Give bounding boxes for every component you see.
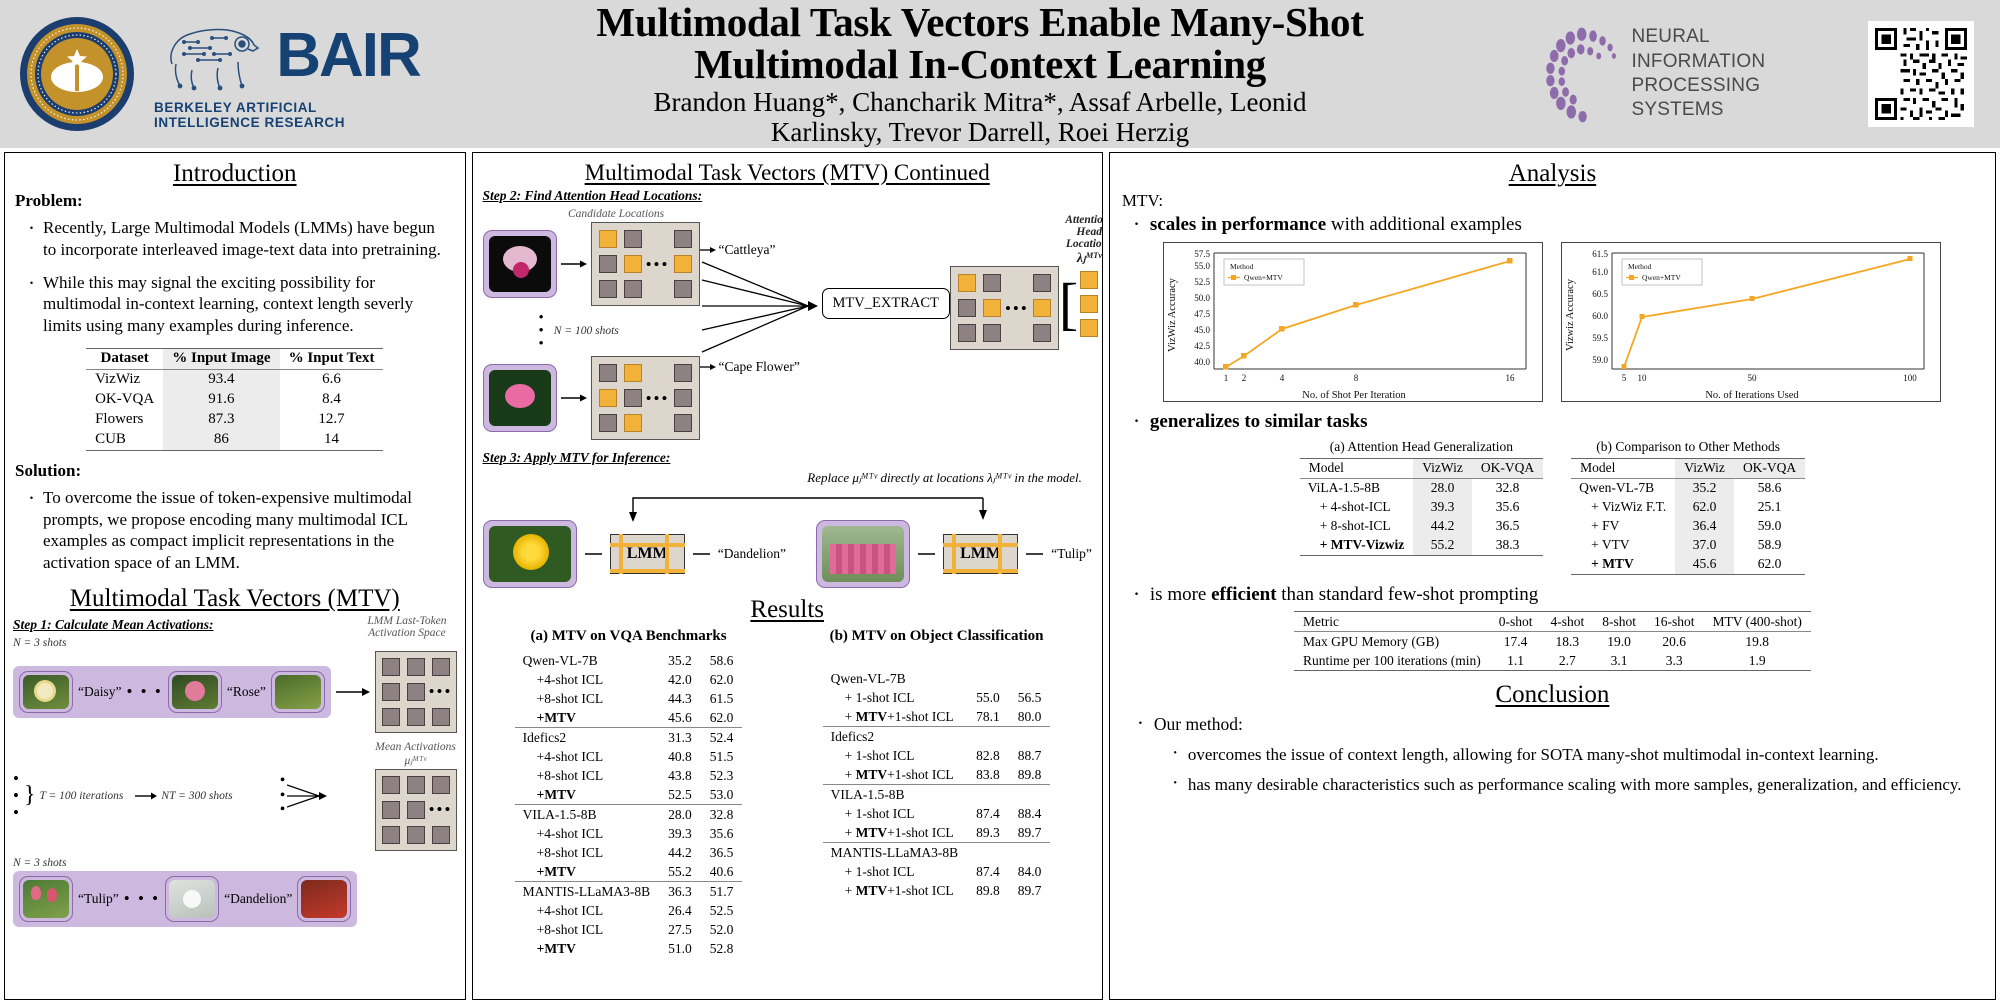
- cell-vizwiz: 35.2: [1675, 478, 1734, 498]
- lmm-box-left: LMM: [610, 534, 685, 574]
- cell-okvqa: 59.0: [1734, 517, 1805, 536]
- cell-model: MANTIS-LLaMA3-8B: [515, 882, 660, 902]
- cell-dataset: OK-VQA: [86, 390, 163, 410]
- svg-text:59.5: 59.5: [1593, 333, 1609, 343]
- table-row: +MTV55.240.6: [515, 862, 743, 882]
- arrow-icon: [918, 548, 935, 560]
- column-introduction: Introduction Problem: Recently, Large Mu…: [4, 152, 466, 1000]
- table-row: Qwen-VL-7B35.258.6: [515, 651, 743, 670]
- inference-image-dandelion: [483, 520, 577, 588]
- cell-okvqa: 88.7: [1009, 746, 1051, 765]
- efficiency-table-wrap: Metric0-shot4-shot8-shot16-shotMTV (400-…: [1110, 611, 1995, 671]
- svg-text:Qwen+MTV: Qwen+MTV: [1642, 273, 1681, 282]
- cell-vizwiz: 39.3: [659, 824, 701, 843]
- chart-iterations-used: No. of Iterations Used Vizwiz Accuracy 5…: [1561, 242, 1941, 402]
- mean-activation-grid: •••: [375, 769, 457, 851]
- cell-model: + MTV-Vizwiz: [1300, 536, 1414, 556]
- col-header: VizWiz: [1413, 458, 1472, 478]
- cell-value: 17.4: [1490, 632, 1542, 652]
- analysis-table-b: ModelVizWizOK-VQAQwen-VL-7B35.258.6+ Viz…: [1571, 458, 1805, 575]
- act-space-line1: LMM Last-Token: [367, 615, 446, 627]
- activation-cell: [624, 280, 642, 298]
- cell-vizwiz: 44.3: [659, 689, 701, 708]
- cell-vizwiz: 45.6: [659, 708, 701, 728]
- col-header: OK-VQA: [1472, 458, 1543, 478]
- svg-text:5: 5: [1622, 373, 1627, 383]
- activation-cell-selected: [958, 274, 976, 292]
- activation-cell: [599, 280, 617, 298]
- table-row: CUB 86 14: [86, 430, 383, 451]
- svg-text:42.5: 42.5: [1195, 341, 1211, 351]
- cell-okvqa: 52.4: [701, 728, 743, 748]
- svg-text:61.5: 61.5: [1593, 249, 1609, 259]
- cell-vizwiz: [967, 727, 1009, 747]
- results-table-a: Qwen-VL-7B35.258.6+4-shot ICL42.062.0+8-…: [515, 651, 743, 958]
- conclusion-lead: Our method:: [1136, 713, 1979, 735]
- table-header-row: Dataset % Input Image % Input Text: [86, 348, 383, 369]
- solution-bullet-list: To overcome the issue of token-expensive…: [5, 487, 465, 574]
- cell-okvqa: 88.4: [1009, 804, 1051, 823]
- inference-output-tulip: “Tulip”: [1051, 546, 1092, 562]
- cell-vizwiz: 28.0: [1413, 478, 1472, 498]
- poster-header: BAIR BERKELEY ARTIFICIAL INTELLIGENCE RE…: [0, 0, 2000, 148]
- svg-text:50.0: 50.0: [1195, 293, 1211, 303]
- cell-model: ViLA-1.5-8B: [1300, 478, 1414, 498]
- output-cape-flower: “Cape Flower”: [719, 359, 800, 375]
- table-row: + MTV+1-shot ICL83.889.8: [823, 765, 1051, 785]
- activation-cell-selected: [1080, 319, 1098, 337]
- svg-text:40.0: 40.0: [1195, 357, 1211, 367]
- activation-cell: [599, 364, 617, 382]
- conclusion-lead-list: Our method:: [1110, 713, 1995, 735]
- table-row: +4-shot ICL40.851.5: [515, 747, 743, 766]
- table-row: + 8-shot-ICL44.236.5: [1300, 517, 1543, 536]
- analysis-tables: (a) Attention Head Generalization ModelV…: [1110, 439, 1995, 575]
- cell-vizwiz: 82.8: [967, 746, 1009, 765]
- cell-model: + MTV+1-shot ICL: [823, 881, 968, 900]
- table-row: Qwen-VL-7B: [823, 669, 1051, 688]
- activation-cell: [382, 776, 400, 794]
- cell-value: 3.1: [1593, 651, 1645, 671]
- cell-okvqa: [1009, 785, 1051, 805]
- cell-dataset: Flowers: [86, 410, 163, 430]
- bullet-bold-generalizes: generalizes to similar tasks: [1150, 411, 1368, 432]
- chart-shots-per-iteration: No. of Shot Per Iteration VizWiz Accurac…: [1163, 242, 1543, 402]
- table-row: Flowers 87.3 12.7: [86, 410, 383, 430]
- cell-dataset: VizWiz: [86, 369, 163, 390]
- cell-okvqa: 35.6: [701, 824, 743, 843]
- col-header: 4-shot: [1541, 612, 1593, 632]
- activation-cell: [599, 414, 617, 432]
- vertical-ellipsis-icon: •••: [539, 312, 544, 350]
- svg-text:4: 4: [1280, 373, 1285, 383]
- replace-text: Replace μⱼᴹᵀᵛ directly at locations λⱼᴹᵀ…: [807, 470, 1082, 486]
- cell-okvqa: 58.9: [1734, 536, 1805, 555]
- activation-cell: [958, 299, 976, 317]
- cell-model: MANTIS-LLaMA3-8B: [823, 843, 968, 863]
- table-row: +4-shot ICL42.062.0: [515, 670, 743, 689]
- authors-line1: Brandon Huang*, Chancharik Mitra*, Assaf…: [426, 87, 1534, 117]
- cell-model: +4-shot ICL: [515, 901, 660, 920]
- cell-okvqa: 51.5: [701, 747, 743, 766]
- col-header: 8-shot: [1593, 612, 1645, 632]
- bair-logo: BAIR BERKELEY ARTIFICIAL INTELLIGENCE RE…: [154, 18, 420, 130]
- left-logos: BAIR BERKELEY ARTIFICIAL INTELLIGENCE RE…: [0, 0, 420, 148]
- nt-shots-label: NT = 300 shots: [161, 790, 232, 802]
- brace-icon: }: [24, 782, 36, 809]
- converging-arrows-icon: [287, 781, 327, 811]
- step2-label: Step 2: Find Attention Head Locations:: [483, 188, 1092, 204]
- activation-cell: [407, 658, 425, 676]
- activation-cell: [407, 708, 425, 726]
- activation-cell: [674, 414, 692, 432]
- activation-cell: [674, 389, 692, 407]
- chart1-legend: Method Qwen+MTV: [1224, 259, 1304, 285]
- cell-vizwiz: 55.2: [1413, 536, 1472, 556]
- cell-okvqa: 58.6: [1734, 478, 1805, 498]
- activation-cell: [1033, 324, 1051, 342]
- bullet-bold-scales: scales in performance: [1150, 214, 1326, 235]
- label-rose: “Rose”: [227, 684, 266, 700]
- activation-cell-selected: [1080, 295, 1098, 313]
- section-title-mtv-continued: Multimodal Task Vectors (MTV) Continued: [473, 160, 1102, 186]
- section-title-analysis: Analysis: [1110, 160, 1995, 188]
- cell-value: 19.8: [1703, 632, 1810, 652]
- activation-cell: [674, 280, 692, 298]
- analysis-bullet-generalizes: generalizes to similar tasks: [1132, 410, 1983, 434]
- cell-model: +4-shot ICL: [515, 747, 660, 766]
- arrow-icon: [700, 245, 716, 255]
- cell-vizwiz: 89.8: [967, 881, 1009, 900]
- table-row: + MTV45.662.0: [1571, 555, 1805, 575]
- cell-value: 18.3: [1541, 632, 1593, 652]
- cell-vizwiz: 40.8: [659, 747, 701, 766]
- cell-model: +8-shot ICL: [515, 843, 660, 862]
- cell-okvqa: 25.1: [1734, 498, 1805, 517]
- table-row: + 1-shot ICL87.484.0: [823, 862, 1051, 881]
- bair-wordmark: BAIR: [276, 28, 420, 84]
- cell-vizwiz: [967, 785, 1009, 805]
- activation-cell: [983, 324, 1001, 342]
- step3-label: Step 3: Apply MTV for Inference:: [483, 450, 1092, 466]
- cell-vizwiz: 39.3: [1413, 498, 1472, 517]
- analysis-bullet-scales: scales in performance with additional ex…: [1132, 213, 1983, 237]
- example-image-cattleya: [483, 230, 557, 298]
- converging-arrows-icon: [700, 260, 822, 356]
- activation-cell: [958, 324, 976, 342]
- activation-cell-selected: [624, 364, 642, 382]
- cell-vizwiz: 37.0: [1675, 536, 1734, 555]
- cell-model: Qwen-VL-7B: [1571, 478, 1675, 498]
- table-row: VILA-1.5-8B28.032.8: [515, 805, 743, 825]
- act-space-line2: Activation Space: [367, 627, 446, 639]
- table-header-row: ModelVizWizOK-VQA: [1571, 458, 1805, 478]
- candidate-grid-bottom: •••: [591, 356, 700, 440]
- activation-cell: [407, 826, 425, 844]
- cell-okvqa: 38.3: [1472, 536, 1543, 556]
- svg-text:Method: Method: [1230, 262, 1254, 271]
- analysis-bullets: scales in performance with additional ex…: [1110, 213, 1995, 237]
- cell-vizwiz: 52.5: [659, 785, 701, 805]
- cell-model: +MTV: [515, 785, 660, 805]
- cell-okvqa: 80.0: [1009, 707, 1051, 727]
- cell-model: + 1-shot ICL: [823, 862, 968, 881]
- col-header: Metric: [1294, 612, 1490, 632]
- cell-input-text: 12.7: [280, 410, 384, 430]
- bair-bear-icon: [154, 18, 266, 94]
- table-row: +4-shot ICL39.335.6: [515, 824, 743, 843]
- cell-input-image: 93.4: [163, 369, 279, 390]
- table-row: + VTV37.058.9: [1571, 536, 1805, 555]
- table-a-caption: (a) MTV on VQA Benchmarks: [479, 628, 779, 645]
- cell-model: + 1-shot ICL: [823, 688, 968, 707]
- analysis-table-b-caption: (b) Comparison to Other Methods: [1571, 439, 1805, 455]
- n-shots-label: N = 100 shots: [554, 325, 619, 337]
- svg-text:Method: Method: [1628, 262, 1652, 271]
- example-image-extra-top: [271, 671, 325, 713]
- table-row: +8-shot ICL43.852.3: [515, 766, 743, 785]
- cell-vizwiz: 35.2: [659, 651, 701, 670]
- bullet-pre-efficient: is more: [1150, 584, 1211, 605]
- cell-okvqa: 62.0: [701, 670, 743, 689]
- table-header-row: ModelVizWizOK-VQA: [1300, 458, 1543, 478]
- iterations-label: T = 100 iterations: [39, 790, 123, 802]
- activation-space-label: LMM Last-Token Activation Space: [367, 615, 446, 639]
- activation-cell: [599, 255, 617, 273]
- svg-text:1: 1: [1224, 373, 1229, 383]
- example-image-extra-bottom: [297, 876, 351, 922]
- svg-text:55.0: 55.0: [1195, 261, 1211, 271]
- cell-value: 2.7: [1541, 651, 1593, 671]
- example-image-dandelion: [165, 876, 219, 922]
- ellipsis-icon: •••: [432, 801, 450, 819]
- cell-vizwiz: [967, 843, 1009, 863]
- arrow-icon: [336, 685, 370, 699]
- cell-vizwiz: 43.8: [659, 766, 701, 785]
- cell-vizwiz: 42.0: [659, 670, 701, 689]
- qr-code-icon[interactable]: [1868, 21, 1974, 127]
- activation-cell-selected: [599, 389, 617, 407]
- table-row: +MTV52.553.0: [515, 785, 743, 805]
- cell-okvqa: 89.7: [1009, 823, 1051, 843]
- table-row: +4-shot ICL26.452.5: [515, 901, 743, 920]
- table-row: + MTV+1-shot ICL78.180.0: [823, 707, 1051, 727]
- example-row-bottom: “Tulip” • • • “Dandelion”: [13, 871, 357, 927]
- cell-vizwiz: 27.5: [659, 920, 701, 939]
- cell-okvqa: 62.0: [1734, 555, 1805, 575]
- activation-cell: [382, 826, 400, 844]
- vertical-ellipsis-icon: •••: [13, 770, 20, 821]
- cell-model: + MTV+1-shot ICL: [823, 707, 968, 727]
- example-image-tulip: [19, 876, 73, 922]
- svg-text:60.5: 60.5: [1593, 289, 1609, 299]
- cell-model: + 1-shot ICL: [823, 746, 968, 765]
- problem-bullet-2: While this may signal the exciting possi…: [27, 272, 451, 337]
- poster-authors: Brandon Huang*, Chancharik Mitra*, Assaf…: [426, 87, 1534, 147]
- neurips-swirl-icon: [1540, 22, 1621, 126]
- column-mtv-continued: Multimodal Task Vectors (MTV) Continued …: [472, 152, 1103, 1000]
- table-row: + 1-shot ICL55.056.5: [823, 688, 1051, 707]
- col-header-input-text: % Input Text: [280, 348, 384, 369]
- conclusion-bullets: overcomes the issue of context length, a…: [1158, 744, 1995, 795]
- cell-model: + 4-shot-ICL: [1300, 498, 1414, 517]
- cell-okvqa: 61.5: [701, 689, 743, 708]
- cell-okvqa: 89.8: [1009, 765, 1051, 785]
- table-row: + 1-shot ICL82.888.7: [823, 746, 1051, 765]
- cell-okvqa: [1009, 669, 1051, 688]
- col-header: 0-shot: [1490, 612, 1542, 632]
- neurips-line2: PROCESSING SYSTEMS: [1631, 74, 1846, 123]
- activation-cell: [624, 389, 642, 407]
- table-row: + MTV+1-shot ICL89.889.7: [823, 881, 1051, 900]
- table-row: ViLA-1.5-8B28.032.8: [1300, 478, 1543, 498]
- activation-cell: [407, 801, 425, 819]
- table-row: MANTIS-LLaMA3-8B: [823, 843, 1051, 863]
- cell-okvqa: 40.6: [701, 862, 743, 882]
- activation-cell-selected: [1080, 271, 1098, 289]
- ellipsis-icon: •••: [649, 389, 667, 407]
- cell-model: + VizWiz F.T.: [1571, 498, 1675, 517]
- cell-model: + 8-shot-ICL: [1300, 517, 1414, 536]
- cell-model: +8-shot ICL: [515, 766, 660, 785]
- cell-model: + MTV+1-shot ICL: [823, 765, 968, 785]
- label-dandelion: “Dandelion”: [224, 891, 292, 907]
- activation-cell-selected: [983, 299, 1001, 317]
- column-analysis: Analysis MTV: scales in performance with…: [1109, 152, 1996, 1000]
- solution-label: Solution:: [15, 461, 465, 481]
- svg-text:100: 100: [1904, 373, 1918, 383]
- step2-diagram: Step 2: Find Attention Head Locations: C…: [473, 188, 1102, 588]
- authors-line2: Karlinsky, Trevor Darrell, Roei Herzig: [426, 117, 1534, 147]
- results-table-a-wrap: (a) MTV on VQA Benchmarks Qwen-VL-7B35.2…: [479, 628, 779, 958]
- analysis-mtv-label: MTV:: [1122, 191, 1995, 211]
- cell-vizwiz: [967, 669, 1009, 688]
- efficiency-table: Metric0-shot4-shot8-shot16-shotMTV (400-…: [1294, 611, 1811, 671]
- table-row: Qwen-VL-7B35.258.6: [1571, 478, 1805, 498]
- cell-okvqa: 36.5: [701, 843, 743, 862]
- dataset-table-wrap: Dataset % Input Image % Input Text VizWi…: [5, 348, 465, 451]
- svg-text:Qwen+MTV: Qwen+MTV: [1244, 273, 1283, 282]
- activation-cell: [983, 274, 1001, 292]
- cell-model: +8-shot ICL: [515, 920, 660, 939]
- col-header: OK-VQA: [1734, 458, 1805, 478]
- table-row: Idefics231.352.4: [515, 728, 743, 748]
- bullet-rest-efficient: than standard few-shot prompting: [1277, 584, 1539, 605]
- cell-model: + MTV: [1571, 555, 1675, 575]
- cell-okvqa: 52.5: [701, 901, 743, 920]
- activation-cell: [674, 364, 692, 382]
- attention-head-label-3: λⱼᴹᵀᵛ: [1059, 250, 1103, 267]
- chart1-ylabel: VizWiz Accuracy: [1167, 277, 1178, 352]
- ellipsis-icon: • • •: [124, 890, 160, 907]
- cell-metric: Max GPU Memory (GB): [1294, 632, 1490, 652]
- example-image-rose: [168, 671, 222, 713]
- cell-vizwiz: 55.2: [659, 862, 701, 882]
- lmm-box-right: LMM: [943, 534, 1018, 574]
- cell-value: 1.1: [1490, 651, 1542, 671]
- arrow-icon: [135, 790, 157, 802]
- poster-title-line1: Multimodal Task Vectors Enable Many-Shot: [426, 1, 1534, 43]
- svg-text:2: 2: [1242, 373, 1247, 383]
- analysis-table-a-caption: (a) Attention Head Generalization: [1300, 439, 1543, 455]
- selected-heads-grid: •••: [950, 266, 1059, 350]
- activation-cell-selected: [624, 414, 642, 432]
- neurips-line1: NEURAL INFORMATION: [1631, 25, 1846, 74]
- cell-vizwiz: 31.3: [659, 728, 701, 748]
- arrow-icon: [561, 258, 587, 270]
- solution-bullet-1: To overcome the issue of token-expensive…: [27, 487, 451, 574]
- neurips-logo: NEURAL INFORMATION PROCESSING SYSTEMS: [1540, 22, 1846, 126]
- cell-model: VILA-1.5-8B: [515, 805, 660, 825]
- cell-model: + FV: [1571, 517, 1675, 536]
- cell-value: 19.0: [1593, 632, 1645, 652]
- table-row: MANTIS-LLaMA3-8B36.351.7: [515, 882, 743, 902]
- cell-vizwiz: 28.0: [659, 805, 701, 825]
- cell-input-image: 91.6: [163, 390, 279, 410]
- svg-text:50: 50: [1748, 373, 1758, 383]
- poster-body: Introduction Problem: Recently, Large Mu…: [0, 148, 2000, 1000]
- activation-cell: [624, 230, 642, 248]
- cell-model: Qwen-VL-7B: [515, 651, 660, 670]
- cell-vizwiz: 55.0: [967, 688, 1009, 707]
- activation-cell: [407, 683, 425, 701]
- activation-cell-selected: [1033, 299, 1051, 317]
- cell-metric: Runtime per 100 iterations (min): [1294, 651, 1490, 671]
- step1-diagram: Step 1: Calculate Mean Activations: LMM …: [5, 615, 465, 927]
- analysis-bullet-efficient: is more efficient than standard few-shot…: [1132, 583, 1983, 607]
- cell-vizwiz: 51.0: [659, 939, 701, 958]
- cell-okvqa: 32.8: [701, 805, 743, 825]
- activation-cell: [1033, 274, 1051, 292]
- cell-okvqa: 32.8: [1472, 478, 1543, 498]
- cell-okvqa: 35.6: [1472, 498, 1543, 517]
- chart1-xlabel: No. of Shot Per Iteration: [1303, 390, 1407, 401]
- table-row: + 4-shot-ICL39.335.6: [1300, 498, 1543, 517]
- table-row: + VizWiz F.T.62.025.1: [1571, 498, 1805, 517]
- chart2-ylabel: Vizwiz Accuracy: [1565, 278, 1576, 351]
- col-header: Model: [1571, 458, 1675, 478]
- cell-vizwiz: 36.4: [1675, 517, 1734, 536]
- activation-cell-selected: [674, 255, 692, 273]
- bair-tagline: BERKELEY ARTIFICIAL INTELLIGENCE RESEARC…: [154, 100, 420, 130]
- col-header-input-image: % Input Image: [163, 348, 279, 369]
- problem-label: Problem:: [15, 191, 465, 211]
- activation-cell-selected: [624, 255, 642, 273]
- title-block: Multimodal Task Vectors Enable Many-Shot…: [420, 1, 1540, 148]
- arrow-icon: [700, 362, 716, 372]
- chart2-xlabel: No. of Iterations Used: [1706, 390, 1800, 401]
- activation-cell: [674, 230, 692, 248]
- cell-okvqa: 52.0: [701, 920, 743, 939]
- dataset-table: Dataset % Input Image % Input Text VizWi…: [86, 348, 383, 451]
- cell-input-text: 6.6: [280, 369, 384, 390]
- cell-vizwiz: 44.2: [1413, 517, 1472, 536]
- cell-model: +MTV: [515, 862, 660, 882]
- activation-cell: [407, 776, 425, 794]
- svg-text:8: 8: [1354, 373, 1359, 383]
- svg-text:61.0: 61.0: [1593, 267, 1609, 277]
- cell-vizwiz: 36.3: [659, 882, 701, 902]
- cell-vizwiz: 89.3: [967, 823, 1009, 843]
- svg-text:16: 16: [1506, 373, 1516, 383]
- svg-text:59.0: 59.0: [1593, 355, 1609, 365]
- attention-head-label-1: Attention-Head: [1059, 214, 1103, 238]
- activation-cell: [432, 776, 450, 794]
- svg-text:10: 10: [1638, 373, 1648, 383]
- activation-cell: [432, 708, 450, 726]
- analysis-table-a-wrap: (a) Attention Head Generalization ModelV…: [1300, 439, 1543, 575]
- arrow-icon: [1026, 548, 1043, 560]
